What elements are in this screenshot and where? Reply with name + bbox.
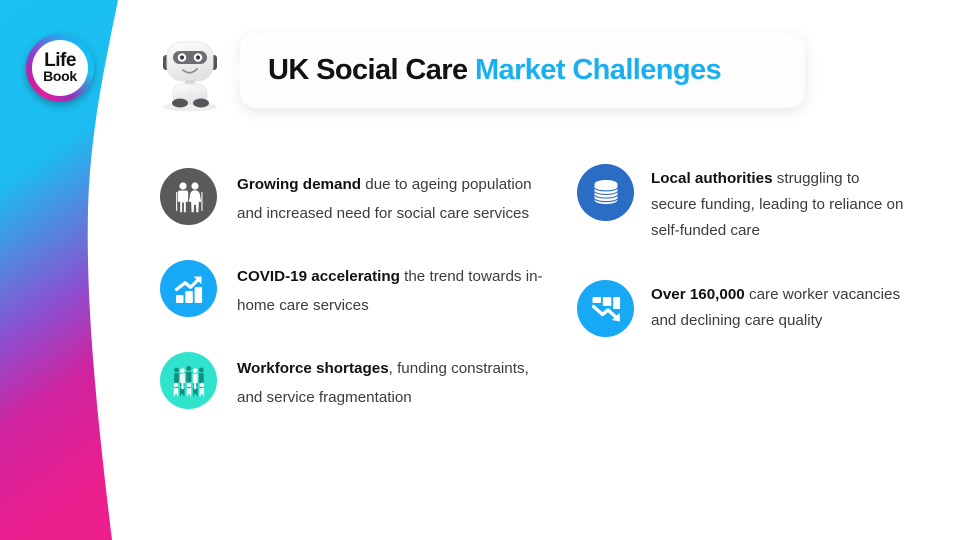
list-item: Workforce shortages, funding constraints… (160, 352, 555, 412)
robot-mascot-icon (152, 28, 228, 113)
list-item-bold: COVID-19 accelerating (237, 268, 400, 285)
list-item-text: Over 160,000 care worker vacancies and d… (651, 280, 907, 334)
list-item: COVID-19 accelerating the trend towards … (160, 260, 555, 320)
logo-inner-circle: Life Book (32, 40, 88, 96)
list-item-bold: Over 160,000 (651, 286, 745, 303)
list-item-text: Growing demand due to ageing population … (237, 168, 555, 228)
bullet-column-right: Local authorities struggling to secure f… (577, 164, 907, 373)
bubble-tail (227, 61, 241, 83)
list-item-text: Workforce shortages, funding constraints… (237, 352, 555, 412)
workforce-people-icon (160, 352, 217, 409)
list-item-text: Local authorities struggling to secure f… (651, 164, 907, 244)
title-accent-part: Market Challenges (475, 54, 721, 86)
list-item-bold: Local authorities (651, 170, 773, 187)
title-plain-part: UK Social Care (268, 54, 475, 86)
bullet-column-left: Growing demand due to ageing population … (160, 168, 555, 444)
list-item: Over 160,000 care worker vacancies and d… (577, 280, 907, 337)
declining-chart-icon (577, 280, 634, 337)
list-item-bold: Growing demand (237, 176, 361, 193)
lifebook-logo[interactable]: Life Book (26, 34, 94, 102)
logo-text-book: Book (43, 70, 77, 84)
page-title: UK Social Care Market Challenges (240, 54, 721, 87)
list-item-bold: Workforce shortages (237, 360, 389, 377)
slide-root: Life Book (0, 0, 960, 540)
list-item: Local authorities struggling to secure f… (577, 164, 907, 244)
title-speech-bubble: UK Social Care Market Challenges (240, 33, 805, 108)
list-item: Growing demand due to ageing population … (160, 168, 555, 228)
list-item-text: COVID-19 accelerating the trend towards … (237, 260, 555, 320)
rising-chart-icon (160, 260, 217, 317)
coin-stack-icon (577, 164, 634, 221)
elderly-couple-icon (160, 168, 217, 225)
